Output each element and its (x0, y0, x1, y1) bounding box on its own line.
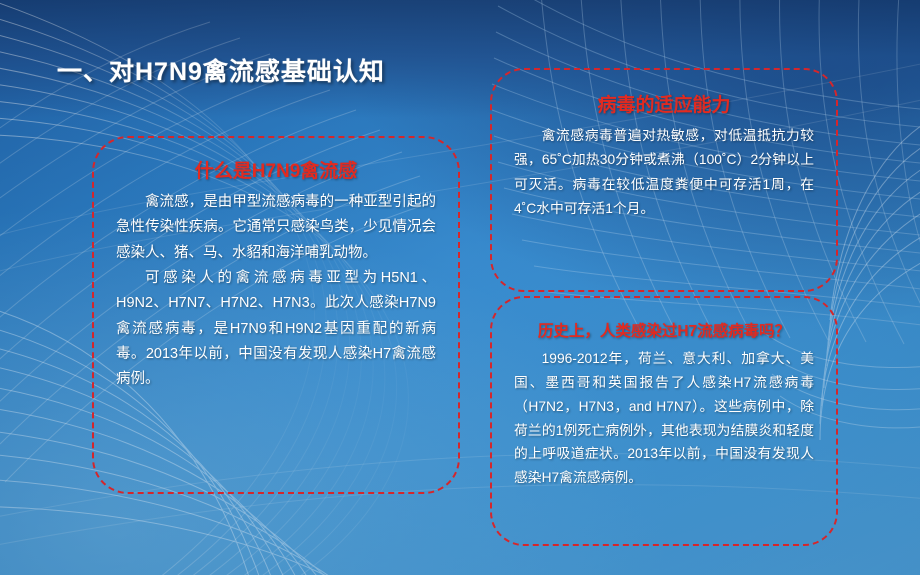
paragraph: 1996-2012年，荷兰、意大利、加拿大、美国、墨西哥和英国报告了人感染H7流… (514, 347, 814, 489)
card-title-history-h7-infection: 历史上，人类感染过H7流感病毒吗？ (514, 322, 814, 341)
card-body-what-is-h7n9: 禽流感，是由甲型流感病毒的一种亚型引起的急性传染性疾病。它通常只感染鸟类，少见情… (116, 190, 436, 393)
card-what-is-h7n9: 什么是H7N9禽流感 禽流感，是由甲型流感病毒的一种亚型引起的急性传染性疾病。它… (92, 136, 460, 494)
card-body-virus-adaptability: 禽流感病毒普遍对热敏感，对低温抵抗力较强，65˚C加热30分钟或煮沸（100˚C… (514, 124, 814, 222)
card-title-what-is-h7n9: 什么是H7N9禽流感 (116, 160, 436, 184)
page-title: 一、对H7N9禽流感基础认知 (57, 52, 385, 88)
card-title-virus-adaptability: 病毒的适应能力 (514, 94, 814, 118)
card-virus-adaptability: 病毒的适应能力 禽流感病毒普遍对热敏感，对低温抵抗力较强，65˚C加热30分钟或… (490, 68, 838, 292)
paragraph: 禽流感，是由甲型流感病毒的一种亚型引起的急性传染性疾病。它通常只感染鸟类，少见情… (116, 190, 436, 266)
paragraph: 可感染人的禽流感病毒亚型为H5N1、H9N2、H7N7、H7N2、H7N3。此次… (116, 266, 436, 393)
card-body-history-h7-infection: 1996-2012年，荷兰、意大利、加拿大、美国、墨西哥和英国报告了人感染H7流… (514, 347, 814, 489)
card-history-h7-infection: 历史上，人类感染过H7流感病毒吗？ 1996-2012年，荷兰、意大利、加拿大、… (490, 296, 838, 546)
paragraph: 禽流感病毒普遍对热敏感，对低温抵抗力较强，65˚C加热30分钟或煮沸（100˚C… (514, 124, 814, 222)
slide-canvas: 一、对H7N9禽流感基础认知 什么是H7N9禽流感 禽流感，是由甲型流感病毒的一… (0, 0, 920, 575)
